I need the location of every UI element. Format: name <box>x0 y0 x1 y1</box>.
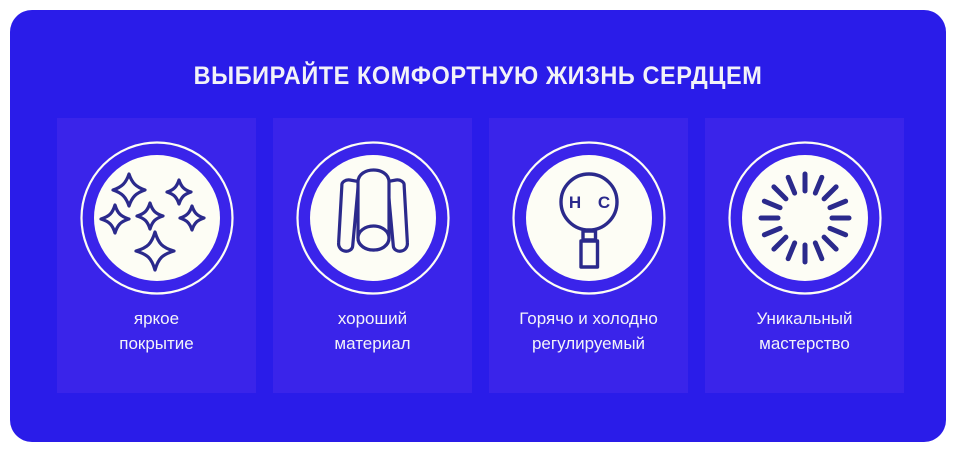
hot-letter: H <box>568 193 580 212</box>
feature-card-craftsmanship[interactable]: Уникальный мастерство <box>705 118 904 393</box>
feature-card-bright-coating[interactable]: яркое покрытие <box>57 118 256 393</box>
label-line-1: Уникальный <box>756 309 852 328</box>
label-line-1: Горячо и холодно <box>519 309 658 328</box>
radial-spray-icon <box>727 140 883 296</box>
label-line-1: хороший <box>338 309 407 328</box>
feature-card-list: яркое покрытие <box>57 118 904 393</box>
feature-banner: ВЫБИРАЙТЕ КОМФОРТНУЮ ЖИЗНЬ СЕРДЦЕМ <box>10 10 946 442</box>
label-line-1: яркое <box>134 309 179 328</box>
label-line-2: материал <box>275 331 470 356</box>
feature-card-label: Уникальный мастерство <box>705 306 904 356</box>
feature-card-good-material[interactable]: хороший материал <box>273 118 472 393</box>
sparkle-coating-icon <box>79 140 235 296</box>
hot-cold-mixer-icon: H C <box>511 140 667 296</box>
feature-card-label: яркое покрытие <box>57 306 256 356</box>
cold-letter: C <box>597 193 609 212</box>
feature-card-hot-cold[interactable]: H C Горячо и холодно регулируемый <box>489 118 688 393</box>
feature-card-label: Горячо и холодно регулируемый <box>489 306 688 356</box>
label-line-2: мастерство <box>707 331 902 356</box>
label-line-2: покрытие <box>59 331 254 356</box>
feature-card-label: хороший материал <box>273 306 472 356</box>
page-title: ВЫБИРАЙТЕ КОМФОРТНУЮ ЖИЗНЬ СЕРДЦЕМ <box>38 62 918 90</box>
label-line-2: регулируемый <box>491 331 686 356</box>
brass-tubes-icon <box>295 140 451 296</box>
